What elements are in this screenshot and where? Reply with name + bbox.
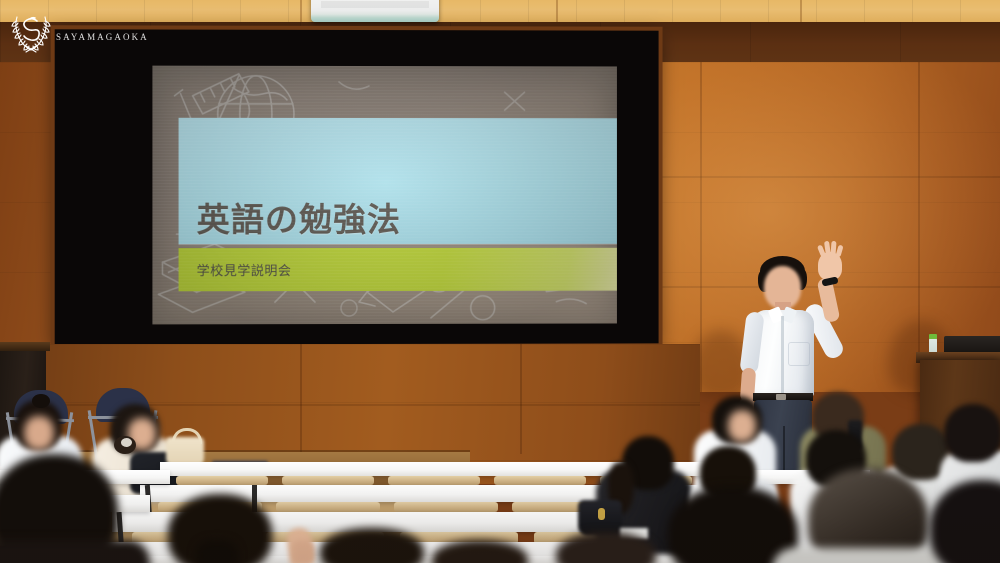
slide-title: 英語の勉強法 bbox=[197, 203, 401, 236]
seat-back bbox=[394, 502, 498, 512]
wall-seam bbox=[300, 344, 302, 454]
bottle-cap bbox=[929, 334, 937, 339]
wall-seam bbox=[918, 62, 920, 362]
seat-back bbox=[494, 476, 586, 485]
audience-head-foreground bbox=[668, 486, 798, 563]
ceiling-seam bbox=[800, 0, 802, 22]
wall-seam bbox=[660, 176, 1000, 178]
shirt-placket bbox=[781, 316, 784, 394]
audience-face bbox=[24, 416, 54, 450]
bag-clasp bbox=[598, 508, 605, 520]
slide-subtitle-band: 学校見学説明会 bbox=[179, 248, 617, 292]
audience-head bbox=[944, 404, 1000, 462]
seat-back bbox=[388, 476, 480, 485]
hair-clip bbox=[121, 438, 132, 447]
shirt-pocket bbox=[788, 342, 810, 366]
seat-back bbox=[276, 502, 380, 512]
ponytail bbox=[196, 540, 238, 563]
wall-seam bbox=[520, 344, 522, 454]
slide-subtitle: 学校見学説明会 bbox=[197, 260, 292, 279]
ceiling-seam bbox=[556, 0, 558, 22]
audience-torso-foreground bbox=[0, 540, 150, 563]
raised-hand-wrist bbox=[292, 540, 314, 563]
seat-back bbox=[176, 476, 268, 485]
audience-face bbox=[728, 410, 756, 442]
wall-seam bbox=[700, 62, 702, 392]
podium-left-top bbox=[0, 342, 50, 351]
hair-bun bbox=[32, 394, 50, 408]
ceiling-projector bbox=[311, 0, 439, 22]
seat-back bbox=[282, 476, 374, 485]
slide-title-band: 英語の勉強法 bbox=[179, 118, 617, 244]
projection-screen-frame: 英語の勉強法 学校見学説明会 bbox=[55, 29, 659, 344]
presenter-raised-hand bbox=[818, 252, 842, 280]
projected-slide: 英語の勉強法 学校見学説明会 bbox=[152, 66, 617, 325]
auditorium-photo: 英語の勉強法 学校見学説明会 bbox=[0, 0, 1000, 563]
ceiling-panel bbox=[0, 0, 1000, 22]
ceiling-seam bbox=[300, 0, 302, 22]
